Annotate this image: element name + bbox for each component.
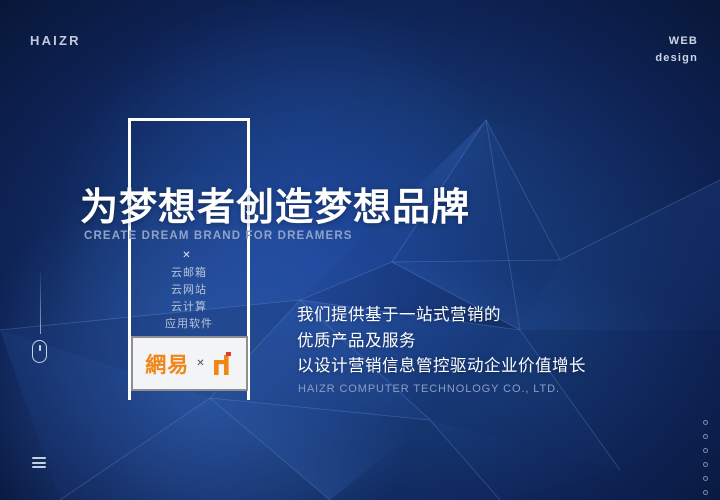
pagination-dot[interactable] bbox=[703, 420, 708, 425]
pagination-dot[interactable] bbox=[703, 490, 708, 495]
company-name: HAIZR COMPUTER TECHNOLOGY CO., LTD. bbox=[298, 383, 560, 395]
logo-separator-icon: ✕ bbox=[196, 358, 204, 369]
nav-item-cloud-computing[interactable]: 云计算 bbox=[128, 299, 250, 316]
page-subtitle: CREATE DREAM BRAND FOR DREAMERS bbox=[84, 230, 353, 242]
hamburger-menu-icon[interactable] bbox=[32, 457, 46, 468]
service-nav-list: 云邮箱 云网站 云计算 应用软件 bbox=[128, 265, 250, 333]
scroll-hint-line bbox=[40, 272, 41, 334]
pagination-dot[interactable] bbox=[703, 476, 708, 481]
close-icon: ✕ bbox=[182, 252, 191, 260]
page-title: 为梦想者创造梦想品牌 bbox=[80, 185, 470, 231]
nav-item-cloud-mail[interactable]: 云邮箱 bbox=[128, 265, 250, 282]
marketing-copy: 我们提供基于一站式营销的 优质产品及服务 以设计营销信息管控驱动企业价值增长 bbox=[297, 303, 586, 380]
pagination-dot[interactable] bbox=[703, 462, 708, 467]
top-right-line2: design bbox=[655, 50, 698, 67]
pagination-dot[interactable] bbox=[703, 434, 708, 439]
copy-line-2: 优质产品及服务 bbox=[297, 329, 586, 355]
partner-h-logo-icon bbox=[212, 351, 234, 377]
copy-line-3: 以设计营销信息管控驱动企业价值增长 bbox=[297, 354, 586, 380]
top-right-line1: WEB bbox=[655, 33, 698, 50]
partner-logo-card[interactable]: 網易 ✕ bbox=[131, 336, 248, 391]
low-poly-background bbox=[0, 0, 720, 500]
pagination-dots[interactable] bbox=[703, 420, 708, 500]
netease-logo-text: 網易 bbox=[145, 349, 189, 379]
nav-item-cloud-website[interactable]: 云网站 bbox=[128, 282, 250, 299]
nav-item-app-software[interactable]: 应用软件 bbox=[128, 316, 250, 333]
top-right-label: WEB design bbox=[655, 33, 698, 67]
pagination-dot[interactable] bbox=[703, 448, 708, 453]
site-logo-text[interactable]: HAIZR bbox=[30, 33, 81, 48]
mouse-scroll-icon[interactable] bbox=[32, 340, 47, 363]
copy-line-1: 我们提供基于一站式营销的 bbox=[297, 303, 586, 329]
page-root: HAIZR WEB design 为梦想者创造梦想品牌 CREATE DREAM… bbox=[0, 0, 720, 500]
